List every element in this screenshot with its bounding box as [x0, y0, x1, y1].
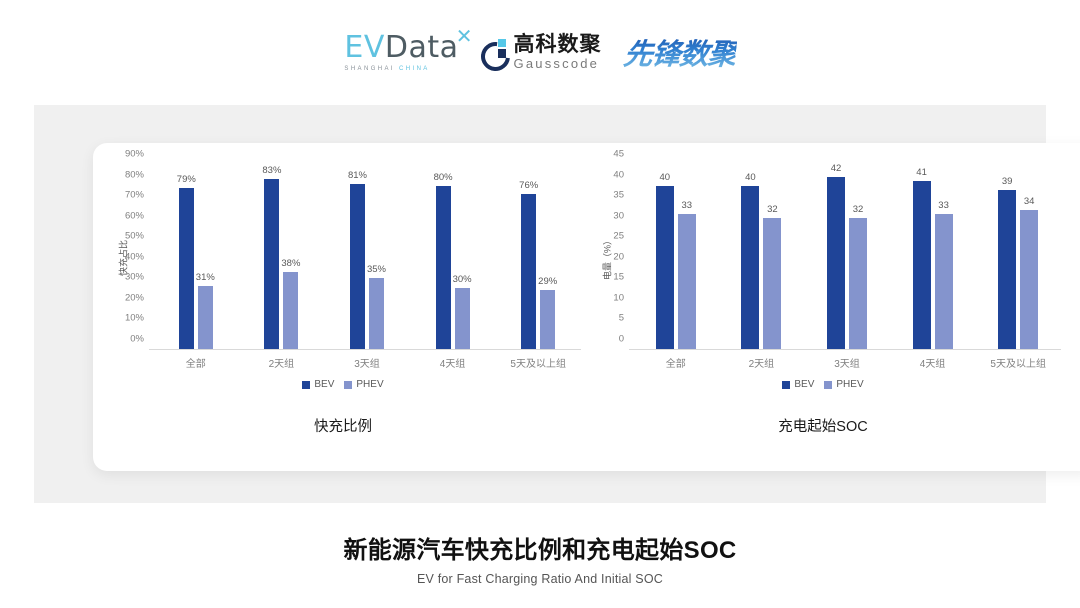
chart-initial-soc: 电量（%） 051015202530354045 403340324232413… — [573, 143, 1073, 471]
bar-group: 79%31% — [153, 165, 239, 350]
legend-item-bev[interactable]: BEV — [782, 379, 814, 390]
y-tick-label: 10% — [125, 313, 144, 324]
bar-group: 81%35% — [324, 165, 410, 350]
y-tick-label: 40% — [125, 251, 144, 262]
bar-group: 3934 — [975, 165, 1061, 350]
bar-group: 80%30% — [410, 165, 496, 350]
bar-phev: 32 — [763, 218, 781, 350]
bar-phev: 31% — [198, 286, 213, 350]
bar-bev: 41 — [913, 181, 931, 350]
bar-value-label: 80% — [434, 172, 453, 183]
bar-value-label: 42 — [831, 163, 842, 174]
bar-phev: 33 — [935, 214, 953, 350]
gausscode-square-light-shape — [498, 39, 506, 47]
legend-label: BEV — [794, 379, 814, 390]
bar-group: 4032 — [719, 165, 805, 350]
legend-item-phev[interactable]: PHEV — [824, 379, 863, 390]
x-tick-label: 2天组 — [719, 355, 805, 370]
y-tick-label: 70% — [125, 190, 144, 201]
legend-swatch-icon — [824, 381, 832, 389]
y-tick-label: 20% — [125, 292, 144, 303]
x-tick-label: 全部 — [633, 355, 719, 370]
gausscode-text: 高科数聚 Gausscode — [514, 34, 602, 70]
logo-evdata: EVData ✕ SHANGHAI CHINA — [344, 33, 458, 72]
bar-value-label: 38% — [281, 258, 300, 269]
bar-group: 76%29% — [495, 165, 581, 350]
x-axis-labels-left: 全部2天组3天组4天组5天及以上组 — [153, 355, 581, 370]
plot-area-left: 快充占比 0%10%20%30%40%50%60%70%80%90% 79%31… — [153, 165, 581, 350]
bar-value-label: 39 — [1002, 176, 1013, 187]
y-tick-label: 5 — [619, 313, 624, 324]
chart-caption-left: 快充比例 — [93, 415, 593, 436]
bar-value-label: 32 — [767, 204, 778, 215]
gausscode-mark-icon — [481, 39, 507, 65]
bar-bev: 80% — [436, 186, 451, 350]
bar-group: 4133 — [890, 165, 976, 350]
evdata-x-icon: ✕ — [456, 27, 473, 47]
bar-groups-right: 40334032423241333934 — [633, 165, 1061, 350]
bar-value-label: 33 — [682, 200, 693, 211]
y-tick-label: 45 — [613, 149, 624, 160]
bar-phev: 32 — [849, 218, 867, 350]
y-tick-label: 0% — [130, 334, 144, 345]
evdata-tagline-country: CHINA — [399, 66, 430, 72]
legend-label: BEV — [314, 379, 334, 390]
x-tick-label: 3天组 — [324, 355, 410, 370]
legend-item-phev[interactable]: PHEV — [344, 379, 383, 390]
gausscode-ring-shape — [475, 36, 516, 77]
x-axis-labels-right: 全部2天组3天组4天组5天及以上组 — [633, 355, 1061, 370]
x-axis-line-left — [149, 349, 581, 350]
chart-fast-charging-ratio: 快充占比 0%10%20%30%40%50%60%70%80%90% 79%31… — [93, 143, 593, 471]
bar-phev: 29% — [540, 290, 555, 350]
bar-value-label: 76% — [519, 180, 538, 191]
evdata-tagline-city: SHANGHAI — [344, 66, 399, 72]
y-tick-label: 15 — [613, 272, 624, 283]
bar-value-label: 81% — [348, 170, 367, 181]
bar-value-label: 35% — [367, 264, 386, 275]
bar-bev: 76% — [521, 194, 536, 350]
bar-bev: 79% — [179, 188, 194, 350]
x-tick-label: 4天组 — [410, 355, 496, 370]
bar-phev: 38% — [283, 272, 298, 350]
legend-label: PHEV — [356, 379, 383, 390]
bar-value-label: 41 — [916, 167, 927, 178]
plot-area-right: 电量（%） 051015202530354045 403340324232413… — [633, 165, 1061, 350]
page-subtitle: EV for Fast Charging Ratio And Initial S… — [0, 572, 1080, 586]
bar-bev: 83% — [264, 179, 279, 350]
bar-bev: 42 — [827, 177, 845, 350]
legend-swatch-icon — [344, 381, 352, 389]
bar-bev: 40 — [741, 186, 759, 350]
bar-value-label: 30% — [453, 274, 472, 285]
logo-xianfeng: 先锋数聚 — [621, 31, 737, 73]
bar-group: 4033 — [633, 165, 719, 350]
legend-right: BEVPHEV — [573, 379, 1073, 390]
legend-left: BEVPHEV — [93, 379, 593, 390]
bar-phev: 33 — [678, 214, 696, 350]
gausscode-cn-name: 高科数聚 — [514, 34, 602, 55]
y-tick-label: 50% — [125, 231, 144, 242]
y-tick-label: 90% — [125, 149, 144, 160]
bar-phev: 34 — [1020, 210, 1038, 350]
bar-value-label: 32 — [853, 204, 864, 215]
bar-phev: 30% — [455, 288, 470, 350]
y-tick-label: 0 — [619, 334, 624, 345]
x-tick-label: 全部 — [153, 355, 239, 370]
evdata-data-text: Data — [385, 30, 459, 65]
evdata-ev-text: EV — [344, 30, 384, 65]
legend-item-bev[interactable]: BEV — [302, 379, 334, 390]
gausscode-square-dark-shape — [498, 49, 506, 58]
y-tick-label: 25 — [613, 231, 624, 242]
bar-bev: 39 — [998, 190, 1016, 350]
footer-titles: 新能源汽车快充比例和充电起始SOC EV for Fast Charging R… — [0, 530, 1080, 586]
bar-group: 4232 — [804, 165, 890, 350]
y-tick-label: 30 — [613, 210, 624, 221]
x-tick-label: 5天及以上组 — [975, 355, 1061, 370]
y-tick-label: 35 — [613, 190, 624, 201]
bar-bev: 40 — [656, 186, 674, 350]
y-tick-label: 60% — [125, 210, 144, 221]
bar-value-label: 33 — [938, 200, 949, 211]
bar-group: 83%38% — [239, 165, 325, 350]
legend-label: PHEV — [836, 379, 863, 390]
evdata-wordmark: EVData — [344, 33, 458, 63]
legend-swatch-icon — [782, 381, 790, 389]
x-tick-label: 3天组 — [804, 355, 890, 370]
bar-bev: 81% — [350, 184, 365, 351]
x-tick-label: 5天及以上组 — [495, 355, 581, 370]
y-tick-label: 20 — [613, 251, 624, 262]
y-axis-ticks-right: 051015202530354045 — [591, 165, 627, 350]
bar-value-label: 83% — [262, 165, 281, 176]
bar-groups-left: 79%31%83%38%81%35%80%30%76%29% — [153, 165, 581, 350]
charts-card: 快充占比 0%10%20%30%40%50%60%70%80%90% 79%31… — [93, 143, 1080, 471]
logo-bar: EVData ✕ SHANGHAI CHINA 高科数聚 Gausscode 先… — [0, 22, 1080, 82]
bar-value-label: 40 — [660, 172, 671, 183]
gausscode-en-name: Gausscode — [514, 57, 602, 70]
bar-phev: 35% — [369, 278, 384, 350]
y-axis-ticks-left: 0%10%20%30%40%50%60%70%80%90% — [111, 165, 147, 350]
x-tick-label: 4天组 — [890, 355, 976, 370]
bar-value-label: 79% — [177, 174, 196, 185]
slide-root: { "logos": { "evdata": { "ev": "EV", "da… — [0, 0, 1080, 608]
x-axis-line-right — [629, 349, 1061, 350]
logo-gausscode: 高科数聚 Gausscode — [481, 34, 602, 70]
y-tick-label: 30% — [125, 272, 144, 283]
y-tick-label: 10 — [613, 292, 624, 303]
chart-caption-right: 充电起始SOC — [573, 415, 1073, 436]
y-tick-label: 40 — [613, 169, 624, 180]
bar-value-label: 29% — [538, 276, 557, 287]
bar-value-label: 40 — [745, 172, 756, 183]
x-tick-label: 2天组 — [239, 355, 325, 370]
page-title: 新能源汽车快充比例和充电起始SOC — [0, 530, 1080, 565]
bar-value-label: 31% — [196, 272, 215, 283]
y-tick-label: 80% — [125, 169, 144, 180]
evdata-tagline: SHANGHAI CHINA — [344, 66, 429, 72]
bar-value-label: 34 — [1024, 196, 1035, 207]
legend-swatch-icon — [302, 381, 310, 389]
